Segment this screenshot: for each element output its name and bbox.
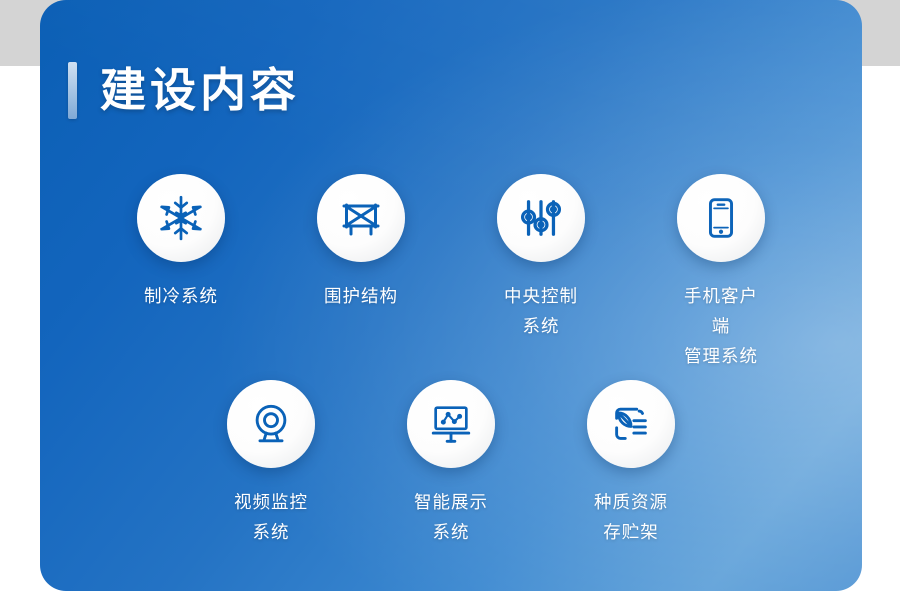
icon-circle: [137, 174, 225, 262]
truss-frame-icon: [337, 194, 385, 242]
smartphone-icon: [699, 196, 743, 240]
item-row-2: 视频监控 系统: [40, 380, 862, 547]
item-cooling-system[interactable]: 制冷系统: [137, 174, 225, 371]
item-label: 围护结构: [324, 281, 398, 311]
sliders-icon: [518, 195, 564, 241]
item-label: 种质资源 存贮架: [594, 487, 668, 547]
leaf-document-icon: [608, 401, 654, 447]
item-label: 中央控制 系统: [504, 281, 578, 341]
item-video-surveillance-system[interactable]: 视频监控 系统: [227, 380, 315, 547]
webcam-icon: [248, 401, 294, 447]
item-smart-display-system[interactable]: 智能展示 系统: [407, 380, 495, 547]
item-enclosure-structure[interactable]: 围护结构: [317, 174, 405, 371]
icon-circle: [677, 174, 765, 262]
title-accent-bar: [68, 62, 77, 119]
icon-circle: [587, 380, 675, 468]
icon-circle: [407, 380, 495, 468]
item-label: 智能展示 系统: [414, 487, 488, 547]
item-label: 手机客户端 管理系统: [677, 281, 765, 371]
content-panel: 建设内容: [40, 0, 862, 591]
item-mobile-client-management-system[interactable]: 手机客户端 管理系统: [677, 174, 765, 371]
item-germplasm-storage-rack[interactable]: 种质资源 存贮架: [587, 380, 675, 547]
snowflake-icon: [156, 193, 206, 243]
item-label: 视频监控 系统: [234, 487, 308, 547]
monitor-network-icon: [428, 401, 474, 447]
icon-circle: [497, 174, 585, 262]
page-title: 建设内容: [100, 67, 300, 113]
item-central-control-system[interactable]: 中央控制 系统: [497, 174, 585, 371]
page-title-row: 建设内容: [68, 60, 300, 120]
icon-circle: [227, 380, 315, 468]
icon-circle: [317, 174, 405, 262]
item-row-1: 制冷系统 围护结构: [40, 174, 862, 371]
item-label: 制冷系统: [144, 281, 218, 311]
